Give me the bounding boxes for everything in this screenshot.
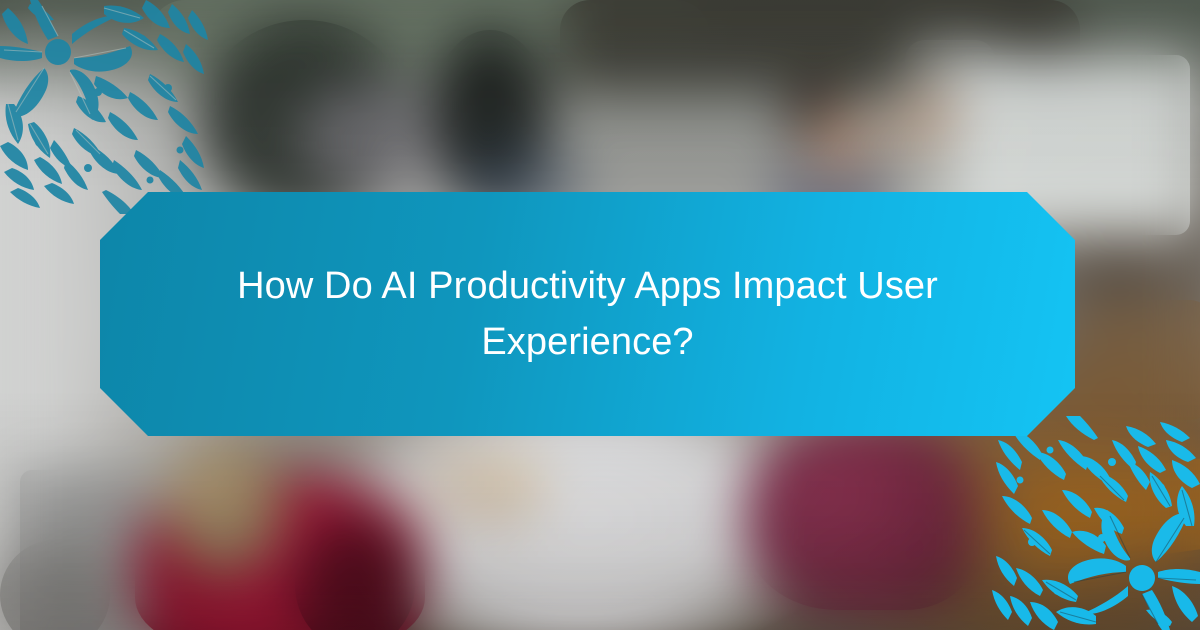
title-banner: How Do AI Productivity Apps Impact User … [100, 192, 1075, 436]
page-title: How Do AI Productivity Apps Impact User … [193, 258, 983, 370]
floral-corner-ornament-top-left [0, 0, 215, 215]
share-card: How Do AI Productivity Apps Impact User … [0, 0, 1200, 630]
floral-corner-ornament-bottom-right [985, 415, 1200, 630]
